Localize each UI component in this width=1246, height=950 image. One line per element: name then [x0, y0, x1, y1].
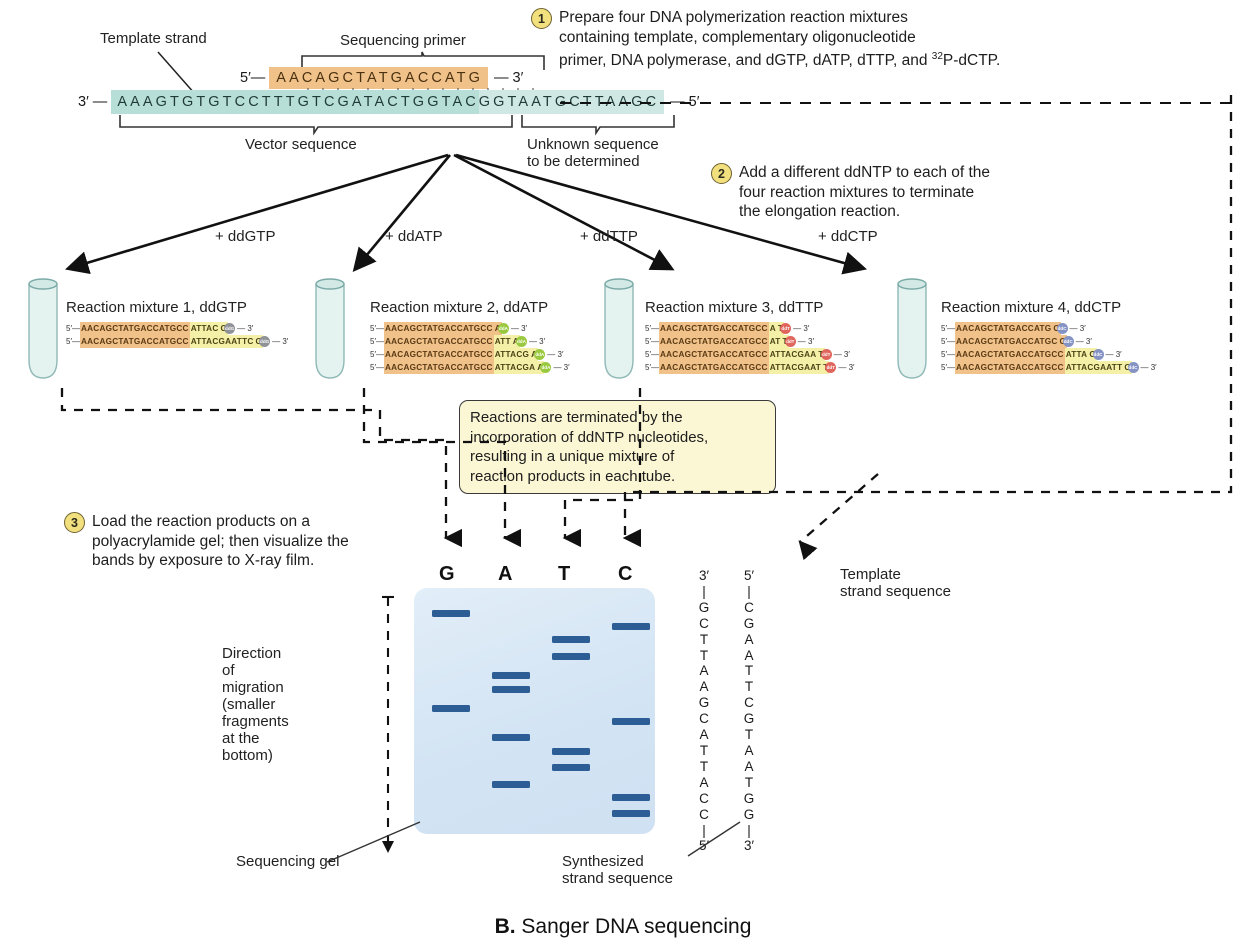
ddntp-terminator-icon: ddA: [540, 362, 551, 373]
synthesized-sequence-leader: [678, 820, 748, 860]
arrow-label-ddatp: + ddATP: [385, 228, 443, 246]
ddntp-terminator-icon: ddA: [534, 349, 545, 360]
fragment-extension-segment: ATT: [494, 335, 512, 348]
step-1-badge: 1: [531, 8, 552, 29]
template-strand-label: Template strand: [100, 30, 207, 48]
fragment-extension-segment: ATTACGAA: [769, 348, 818, 361]
template-ladder-base: A: [693, 727, 715, 743]
gel-lane-label-t: T: [558, 563, 570, 586]
fragment-5-prime: 5′—: [370, 323, 384, 334]
fragment-5-prime: 5′—: [370, 336, 384, 347]
fragment-row: 5′— AACAGCTATGACCATGCCATTACGAATTCddC — 3…: [941, 361, 1157, 374]
template-strand-sequence-label: Template strand sequence: [840, 566, 951, 600]
fragment-3-prime: — 3′: [1106, 349, 1122, 360]
arrow-label-ddttp: + ddTTP: [580, 228, 638, 246]
fragment-primer-segment: AACAGCTATGACCATGCC: [384, 361, 494, 374]
fragment-primer-segment: AACAGCTATGACCATGCC: [659, 361, 769, 374]
fragment-3-prime: — 3′: [1076, 336, 1092, 347]
fragment-5-prime: 5′—: [66, 323, 80, 334]
primer-5-prime: 5′—: [240, 70, 265, 86]
fragment-primer-segment: AACAGCTATGACCATGCC: [659, 335, 769, 348]
fragment-primer-segment: AACAGCTATGACCATG: [955, 322, 1052, 335]
gel-band-a: [492, 781, 530, 788]
step-1: 1 Prepare four DNA polymerization reacti…: [531, 8, 1000, 71]
fragment-row: 5′— AACAGCTATGACCATGCCATTACGAATddT — 3′: [645, 348, 855, 361]
fragment-5-prime: 5′—: [645, 349, 659, 360]
reaction-tube-4: [893, 272, 935, 390]
reaction-block-2: Reaction mixture 2, ddATP 5′— AACAGCTATG…: [370, 299, 570, 374]
fragment-5-prime: 5′—: [370, 349, 384, 360]
gel-band-c: [612, 718, 650, 725]
reaction-4-fragments: 5′— AACAGCTATGACCATGCddC — 3′5′— AACAGCT…: [941, 322, 1157, 374]
sequencing-gel[interactable]: [414, 588, 655, 834]
fragment-primer-segment: AACAGCTATGACCATGC: [955, 335, 1059, 348]
gel-band-c: [612, 623, 650, 630]
gel-band-t: [552, 636, 590, 643]
reaction-tube-1: [24, 272, 66, 390]
fragment-extension-segment: AT: [769, 335, 782, 348]
primer-strand-row: 5′— AACAGCTATGACCATG — 3′: [240, 67, 523, 89]
reaction-3-title: Reaction mixture 3, ddTTP: [645, 299, 855, 316]
fragment-3-prime: — 3′: [793, 323, 809, 334]
synth-ladder-base: G: [738, 616, 760, 632]
fragment-5-prime: 5′—: [645, 362, 659, 373]
reaction-tube-3: [600, 272, 642, 390]
template-dashed-right: [560, 95, 1246, 111]
synthesized-strand-label: Synthesized strand sequence: [562, 853, 673, 887]
fragment-extension-segment: A: [769, 322, 777, 335]
fragment-primer-segment: AACAGCTATGACCATGCC: [384, 322, 494, 335]
fragment-3-prime: — 3′: [838, 362, 854, 373]
fragment-primer-segment: AACAGCTATGACCATGCC: [659, 322, 769, 335]
ddntp-terminator-icon: ddC: [1057, 323, 1068, 334]
fragment-3-prime: — 3′: [1141, 362, 1157, 373]
figure-caption: B. Sanger DNA sequencing: [0, 915, 1246, 939]
template-3-prime: 3′ —: [78, 94, 107, 110]
template-ladder-base: C: [693, 791, 715, 807]
fragment-primer-segment: AACAGCTATGACCATGCC: [80, 335, 190, 348]
reaction-block-3: Reaction mixture 3, ddTTP 5′— AACAGCTATG…: [645, 299, 855, 374]
reaction-1-fragments: 5′— AACAGCTATGACCATGCCATTACGddG — 3′5′— …: [66, 322, 288, 348]
step-3-text: Load the reaction products on a polyacry…: [92, 512, 349, 571]
ddntp-terminator-icon: ddC: [1093, 349, 1104, 360]
synth-ladder-base: A: [738, 648, 760, 664]
reaction-3-fragments: 5′— AACAGCTATGACCATGCCATddT — 3′5′— AACA…: [645, 322, 855, 374]
fragment-5-prime: 5′—: [941, 349, 955, 360]
reaction-block-4: Reaction mixture 4, ddCTP 5′— AACAGCTATG…: [941, 299, 1157, 374]
sequencing-primer-label: Sequencing primer: [340, 32, 466, 50]
gel-lane-label-c: C: [618, 563, 632, 586]
fragment-row: 5′— AACAGCTATGACCATGCCATTACGAddA — 3′: [370, 348, 570, 361]
gel-band-t: [552, 653, 590, 660]
isotope-superscript: 32: [932, 51, 943, 62]
template-ladder-base: A: [693, 775, 715, 791]
template-ladder-base: A: [693, 679, 715, 695]
caption-letter: B.: [495, 915, 516, 938]
synth-ladder-tick-top: |: [738, 584, 760, 600]
step-3: 3 Load the reaction products on a polyac…: [64, 512, 349, 571]
synth-ladder-base: A: [738, 759, 760, 775]
fragment-5-prime: 5′—: [941, 362, 955, 373]
fragment-primer-segment: AACAGCTATGACCATGCC: [384, 335, 494, 348]
fragment-primer-segment: AACAGCTATGACCATGCC: [80, 322, 190, 335]
fragment-3-prime: — 3′: [272, 336, 288, 347]
fragment-3-prime: — 3′: [798, 336, 814, 347]
fragment-extension-segment: ATTACGAATTC: [190, 335, 255, 348]
ddntp-terminator-icon: ddC: [1063, 336, 1074, 347]
sequencing-gel-label: Sequencing gel: [236, 853, 339, 871]
step-1-text: Prepare four DNA polymerization reaction…: [559, 8, 1000, 71]
caption-text: Sanger DNA sequencing: [521, 915, 751, 938]
fragment-extension-segment: ATTACG: [494, 348, 530, 361]
fragment-3-prime: — 3′: [1070, 323, 1086, 334]
template-ladder-base: C: [693, 616, 715, 632]
fragment-extension-segment: ATTACGA: [494, 361, 537, 374]
fragment-extension-segment: ATTAC: [190, 322, 220, 335]
fragment-row: 5′— AACAGCTATGACCATGCCATTACddC — 3′: [941, 348, 1157, 361]
template-ladder-base: T: [693, 632, 715, 648]
reaction-2-fragments: 5′— AACAGCTATGACCATGCCAddA — 3′5′— AACAG…: [370, 322, 570, 374]
template-ladder-base: G: [693, 600, 715, 616]
arrow-label-ddctp: + ddCTP: [818, 228, 878, 246]
synth-ladder-base: T: [738, 679, 760, 695]
gel-band-g: [432, 705, 470, 712]
fragment-3-prime: — 3′: [511, 323, 527, 334]
template-ladder-base: G: [693, 695, 715, 711]
reaction-tube-2: [311, 272, 353, 390]
fragment-5-prime: 5′—: [941, 323, 955, 334]
template-strand-ladder: 3′|GCTTAAGCATTACC|5′: [693, 568, 715, 854]
template-sequence-dashed-link: [700, 470, 890, 575]
sequencing-gel-leader: [325, 820, 435, 865]
fragment-extension-segment: ATTACGAATT: [1065, 361, 1124, 374]
gel-band-a: [492, 672, 530, 679]
fragment-row: 5′— AACAGCTATGACCATGCCATTACGAATTddT — 3′: [645, 361, 855, 374]
fragment-row: 5′— AACAGCTATGACCATGCCATTAddA — 3′: [370, 335, 570, 348]
step-3-badge: 3: [64, 512, 85, 533]
primer-sequence: AACAGCTATGACCATG: [269, 67, 488, 89]
gel-lane-label-g: G: [439, 563, 455, 586]
fragment-extension-segment: ATTACGAAT: [769, 361, 822, 374]
primer-3-prime: — 3′: [494, 70, 523, 86]
ddntp-terminator-icon: ddC: [1128, 362, 1139, 373]
split-arrows: [40, 150, 950, 280]
synth-ladder-base: T: [738, 663, 760, 679]
ddntp-terminator-icon: ddT: [821, 349, 832, 360]
synth-ladder-base: A: [738, 743, 760, 759]
synth-ladder-base: T: [738, 775, 760, 791]
fragment-row: 5′— AACAGCTATGACCATGCCATTACGddG — 3′: [66, 322, 288, 335]
synth-ladder-base: A: [738, 632, 760, 648]
fragment-row: 5′— AACAGCTATGACCATGCCATTACGAATTCGddG — …: [66, 335, 288, 348]
fragment-row: 5′— AACAGCTATGACCATGCCAddA — 3′: [370, 322, 570, 335]
reaction-1-title: Reaction mixture 1, ddGTP: [66, 299, 288, 316]
fragment-3-prime: — 3′: [834, 349, 850, 360]
gel-band-a: [492, 686, 530, 693]
migration-direction-arrow: [378, 595, 400, 855]
arrow-label-ddgtp: + ddGTP: [215, 228, 275, 246]
ddntp-terminator-icon: ddT: [785, 336, 796, 347]
reaction-block-1: Reaction mixture 1, ddGTP 5′— AACAGCTATG…: [66, 299, 288, 348]
synth-ladder-base: T: [738, 727, 760, 743]
template-ladder-top-prime: 3′: [693, 568, 715, 584]
fragment-primer-segment: AACAGCTATGACCATGCC: [955, 348, 1065, 361]
gel-band-c: [612, 794, 650, 801]
template-ladder-base: C: [693, 711, 715, 727]
fragment-5-prime: 5′—: [370, 362, 384, 373]
fragment-5-prime: 5′—: [645, 336, 659, 347]
gel-lane-label-a: A: [498, 563, 512, 586]
template-ladder-tick-top: |: [693, 584, 715, 600]
ddntp-terminator-icon: ddT: [780, 323, 791, 334]
ddntp-terminator-icon: ddA: [516, 336, 527, 347]
fragment-5-prime: 5′—: [645, 323, 659, 334]
synth-ladder-base: G: [738, 711, 760, 727]
gel-band-g: [432, 610, 470, 617]
synth-ladder-base: G: [738, 791, 760, 807]
synth-ladder-base: C: [738, 600, 760, 616]
gel-band-c: [612, 810, 650, 817]
template-ladder-base: T: [693, 648, 715, 664]
reaction-4-title: Reaction mixture 4, ddCTP: [941, 299, 1157, 316]
fragment-row: 5′— AACAGCTATGACCATGCCATTACGAAddA — 3′: [370, 361, 570, 374]
ddntp-terminator-icon: ddA: [498, 323, 509, 334]
template-vector-sequence: AAAGTGTGTCCTTTGTCGATACTGGTAC: [111, 90, 478, 114]
fragment-row: 5′— AACAGCTATGACCATGCddC — 3′: [941, 322, 1157, 335]
gel-band-a: [492, 734, 530, 741]
gel-band-t: [552, 748, 590, 755]
template-ladder-base: A: [693, 663, 715, 679]
fragment-3-prime: — 3′: [237, 323, 253, 334]
ddntp-terminator-icon: ddG: [224, 323, 235, 334]
ddntp-terminator-icon: ddT: [825, 362, 836, 373]
direction-of-migration-label: Direction of migration (smaller fragment…: [222, 645, 300, 764]
fragment-3-prime: — 3′: [529, 336, 545, 347]
fragment-primer-segment: AACAGCTATGACCATGCC: [659, 348, 769, 361]
fragment-3-prime: — 3′: [553, 362, 569, 373]
gel-band-t: [552, 764, 590, 771]
vector-unknown-braces: [118, 113, 728, 135]
fragment-row: 5′— AACAGCTATGACCATGCCATTddT — 3′: [645, 335, 855, 348]
template-ladder-base: T: [693, 759, 715, 775]
synthesized-strand-ladder: 5′|CGAATTCGTAATGG|3′: [738, 568, 760, 854]
fragment-row: 5′— AACAGCTATGACCATGCCddC — 3′: [941, 335, 1157, 348]
ddntp-terminator-icon: ddG: [259, 336, 270, 347]
fragment-extension-segment: ATTA: [1065, 348, 1089, 361]
synth-ladder-top-prime: 5′: [738, 568, 760, 584]
template-ladder-base: T: [693, 743, 715, 759]
fragment-5-prime: 5′—: [941, 336, 955, 347]
fragment-3-prime: — 3′: [547, 349, 563, 360]
fragment-primer-segment: AACAGCTATGACCATGCC: [955, 361, 1065, 374]
reaction-2-title: Reaction mixture 2, ddATP: [370, 299, 570, 316]
fragment-row: 5′— AACAGCTATGACCATGCCATddT — 3′: [645, 322, 855, 335]
fragment-primer-segment: AACAGCTATGACCATGCC: [384, 348, 494, 361]
synth-ladder-base: C: [738, 695, 760, 711]
fragment-5-prime: 5′—: [66, 336, 80, 347]
